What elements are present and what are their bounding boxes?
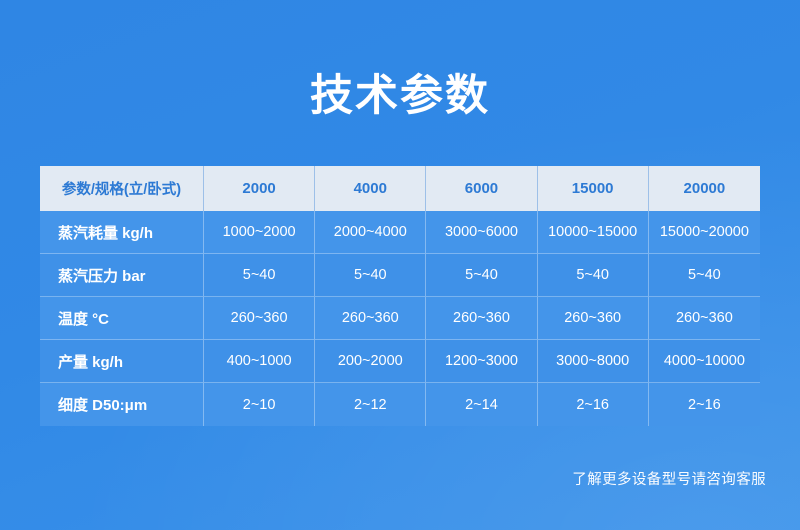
technical-parameters-table: 参数/规格(立/卧式) 2000 4000 6000 15000 20000 蒸… [40, 166, 760, 426]
table-row: 细度 D50:μm 2~10 2~12 2~14 2~16 2~16 [40, 383, 760, 426]
table-cell: 5~40 [649, 254, 760, 297]
table-cell: 1200~3000 [426, 340, 537, 383]
table-header-row: 参数/规格(立/卧式) 2000 4000 6000 15000 20000 [40, 166, 760, 211]
row-label: 蒸汽耗量 kg/h [40, 211, 204, 254]
row-label: 产量 kg/h [40, 340, 204, 383]
footer-note: 了解更多设备型号请咨询客服 [572, 468, 766, 489]
table-cell: 200~2000 [315, 340, 426, 383]
table-row: 产量 kg/h 400~1000 200~2000 1200~3000 3000… [40, 340, 760, 383]
column-header-15000: 15000 [538, 166, 649, 211]
table-cell: 2~12 [315, 383, 426, 426]
table-cell: 3000~8000 [538, 340, 649, 383]
table-cell: 260~360 [204, 297, 315, 340]
table-cell: 2~10 [204, 383, 315, 426]
spec-poster: 技术参数 参数/规格(立/卧式) 2000 4000 6000 15000 20… [0, 0, 800, 530]
column-header-parameter: 参数/规格(立/卧式) [40, 166, 204, 211]
table-cell: 260~360 [649, 297, 760, 340]
row-label: 温度 °C [40, 297, 204, 340]
table-cell: 1000~2000 [204, 211, 315, 254]
table-cell: 400~1000 [204, 340, 315, 383]
table-cell: 2~16 [649, 383, 760, 426]
table-cell: 260~360 [426, 297, 537, 340]
table-cell: 2~16 [538, 383, 649, 426]
table-cell: 5~40 [538, 254, 649, 297]
table-cell: 2000~4000 [315, 211, 426, 254]
table-cell: 10000~15000 [538, 211, 649, 254]
column-header-6000: 6000 [426, 166, 537, 211]
table-cell: 260~360 [315, 297, 426, 340]
column-header-2000: 2000 [204, 166, 315, 211]
table-row: 蒸汽耗量 kg/h 1000~2000 2000~4000 3000~6000 … [40, 211, 760, 254]
column-header-20000: 20000 [649, 166, 760, 211]
table-cell: 5~40 [315, 254, 426, 297]
table-cell: 5~40 [426, 254, 537, 297]
table-cell: 5~40 [204, 254, 315, 297]
table-cell: 4000~10000 [649, 340, 760, 383]
column-header-4000: 4000 [315, 166, 426, 211]
table-cell: 260~360 [538, 297, 649, 340]
table-row: 温度 °C 260~360 260~360 260~360 260~360 26… [40, 297, 760, 340]
table-cell: 15000~20000 [649, 211, 760, 254]
page-title: 技术参数 [0, 66, 800, 126]
row-label: 蒸汽压力 bar [40, 254, 204, 297]
row-label: 细度 D50:μm [40, 383, 204, 426]
table-cell: 3000~6000 [426, 211, 537, 254]
spec-table-container: 参数/规格(立/卧式) 2000 4000 6000 15000 20000 蒸… [40, 166, 760, 426]
table-row: 蒸汽压力 bar 5~40 5~40 5~40 5~40 5~40 [40, 254, 760, 297]
table-cell: 2~14 [426, 383, 537, 426]
